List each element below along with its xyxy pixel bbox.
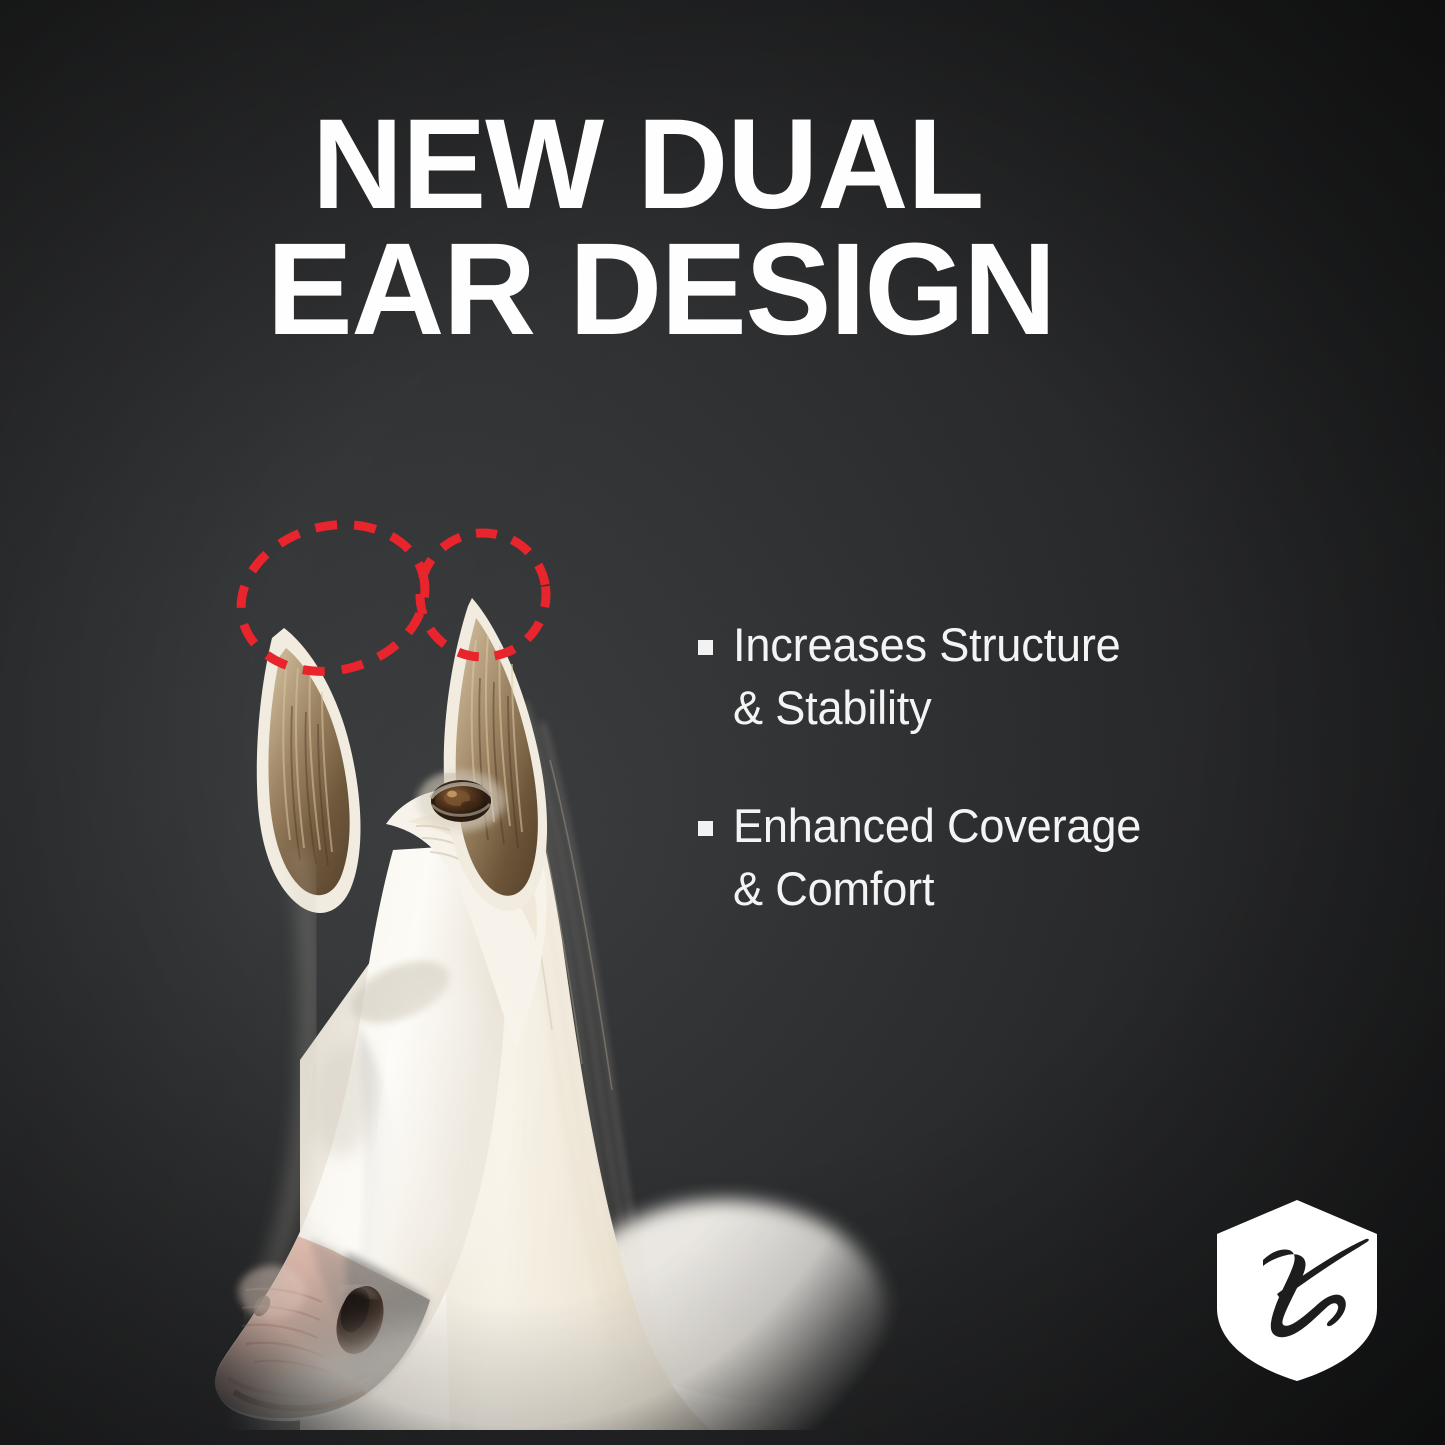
list-item-label: Increases Structure & Stability [733, 614, 1121, 739]
promo-image-canvas: NEW DUAL EAR DESIGN Increases Structure … [0, 0, 1445, 1445]
list-item-label: Enhanced Coverage & Comfort [733, 795, 1141, 920]
page-title: NEW DUAL EAR DESIGN [312, 104, 1199, 351]
shield-shape [1217, 1200, 1377, 1381]
feature-list: Increases Structure & Stability Enhanced… [698, 614, 1358, 976]
headline-line-2: EAR DESIGN [267, 226, 1199, 351]
headline-line-1: NEW DUAL [312, 104, 1199, 226]
brand-logo [1211, 1198, 1383, 1383]
list-item: Increases Structure & Stability [698, 614, 1358, 739]
list-item: Enhanced Coverage & Comfort [698, 795, 1358, 920]
square-bullet-icon [698, 821, 713, 836]
square-bullet-icon [698, 640, 713, 655]
